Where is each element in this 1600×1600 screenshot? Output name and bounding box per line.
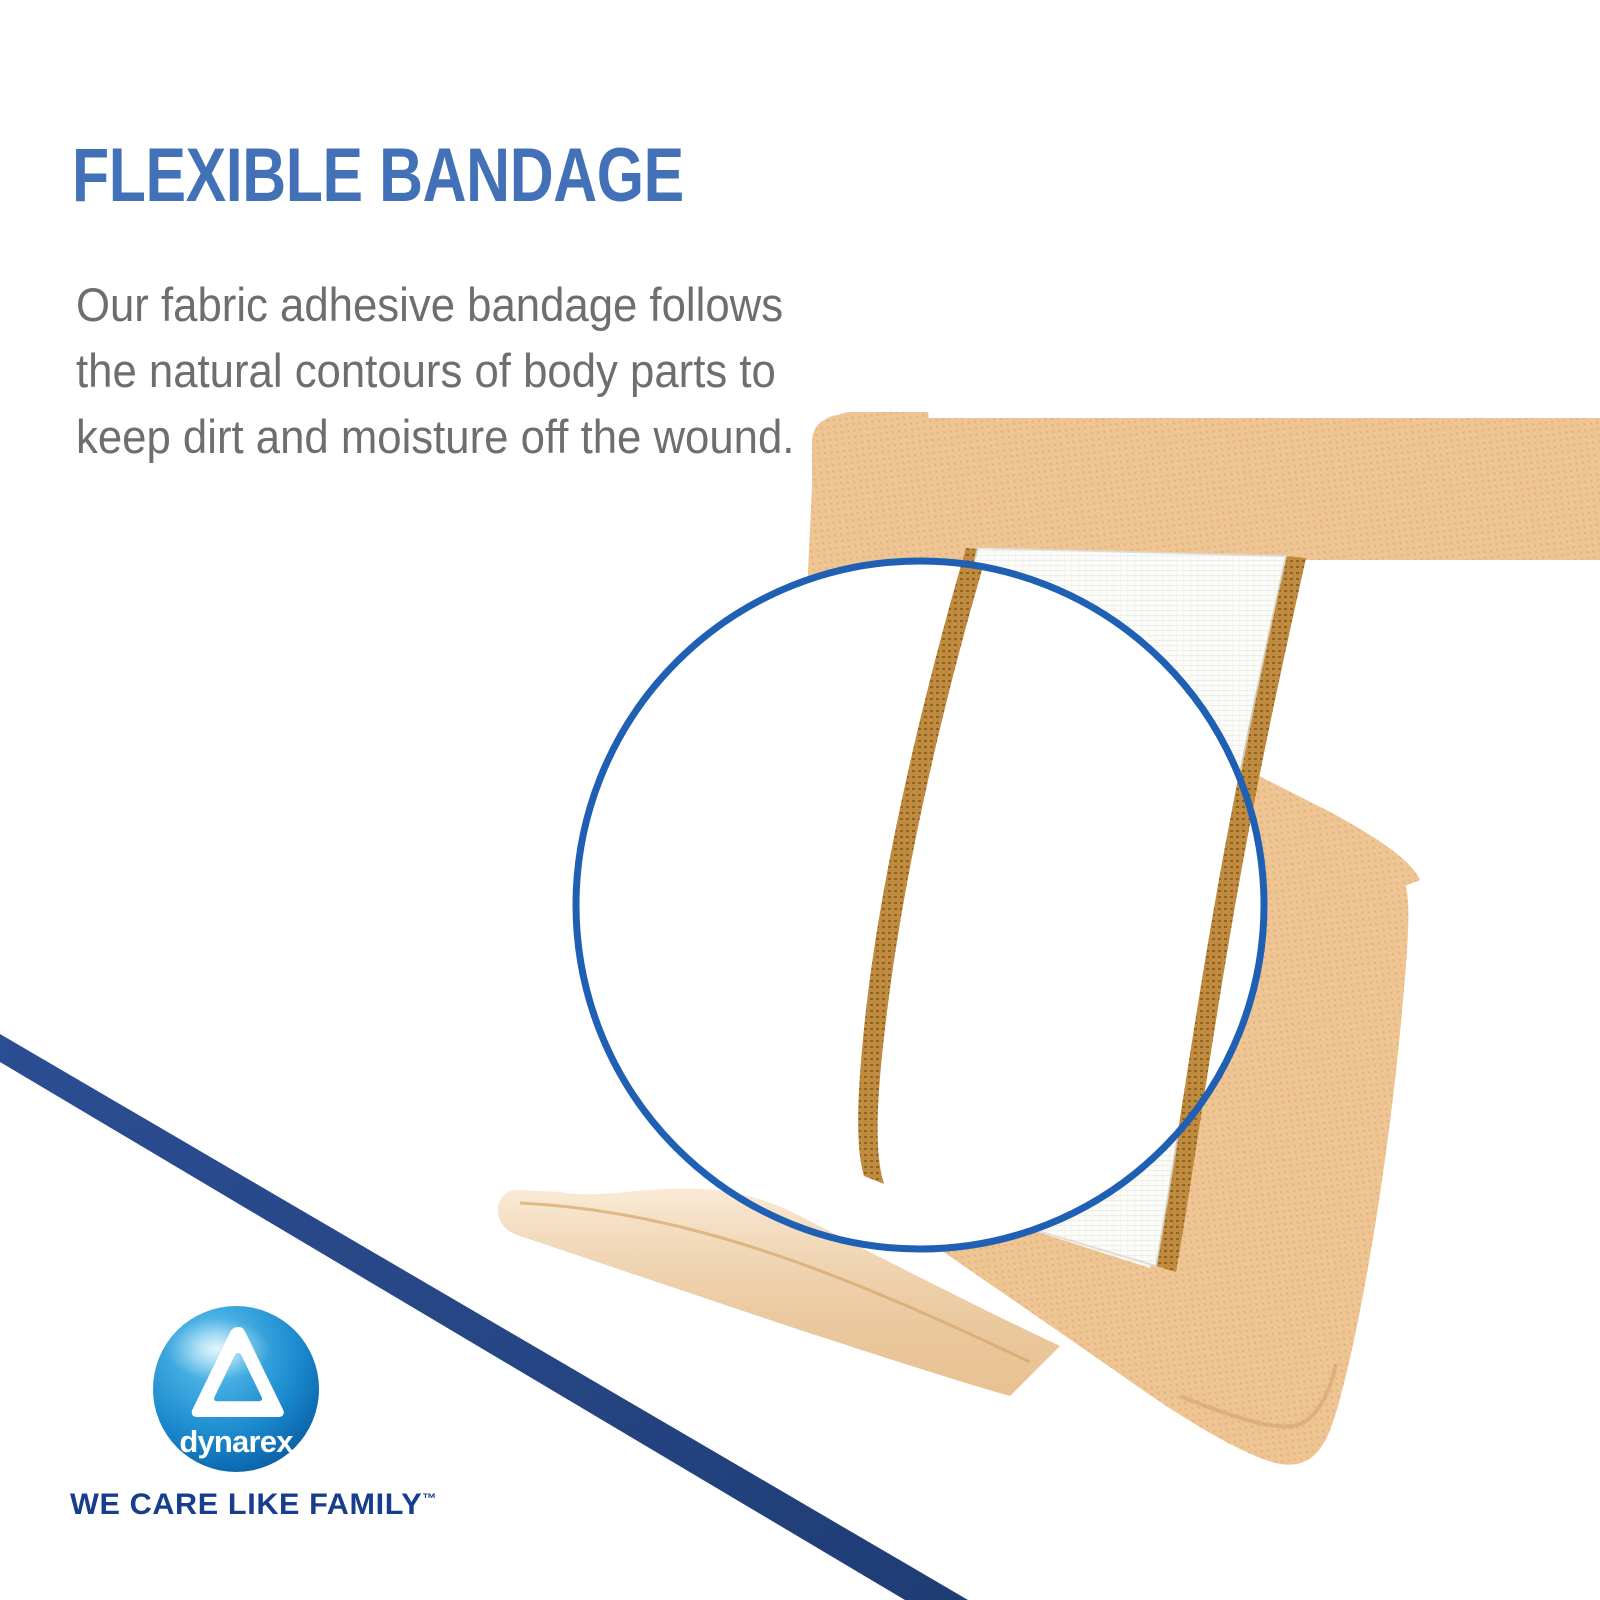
product-feature-card: FLEXIBLE BANDAGE Our fabric adhesive ban… [0,0,1600,1600]
dynarex-triangle-mark: dynarex [152,1305,320,1473]
trademark-symbol: ™ [422,1490,436,1506]
brand-logo: dynarex WE CARE LIKE FAMILY™ [70,1300,490,1530]
tagline-text: WE CARE LIKE FAMILY [70,1488,422,1521]
logo-wordmark: dynarex [179,1424,294,1459]
brand-tagline: WE CARE LIKE FAMILY™ [70,1488,436,1522]
